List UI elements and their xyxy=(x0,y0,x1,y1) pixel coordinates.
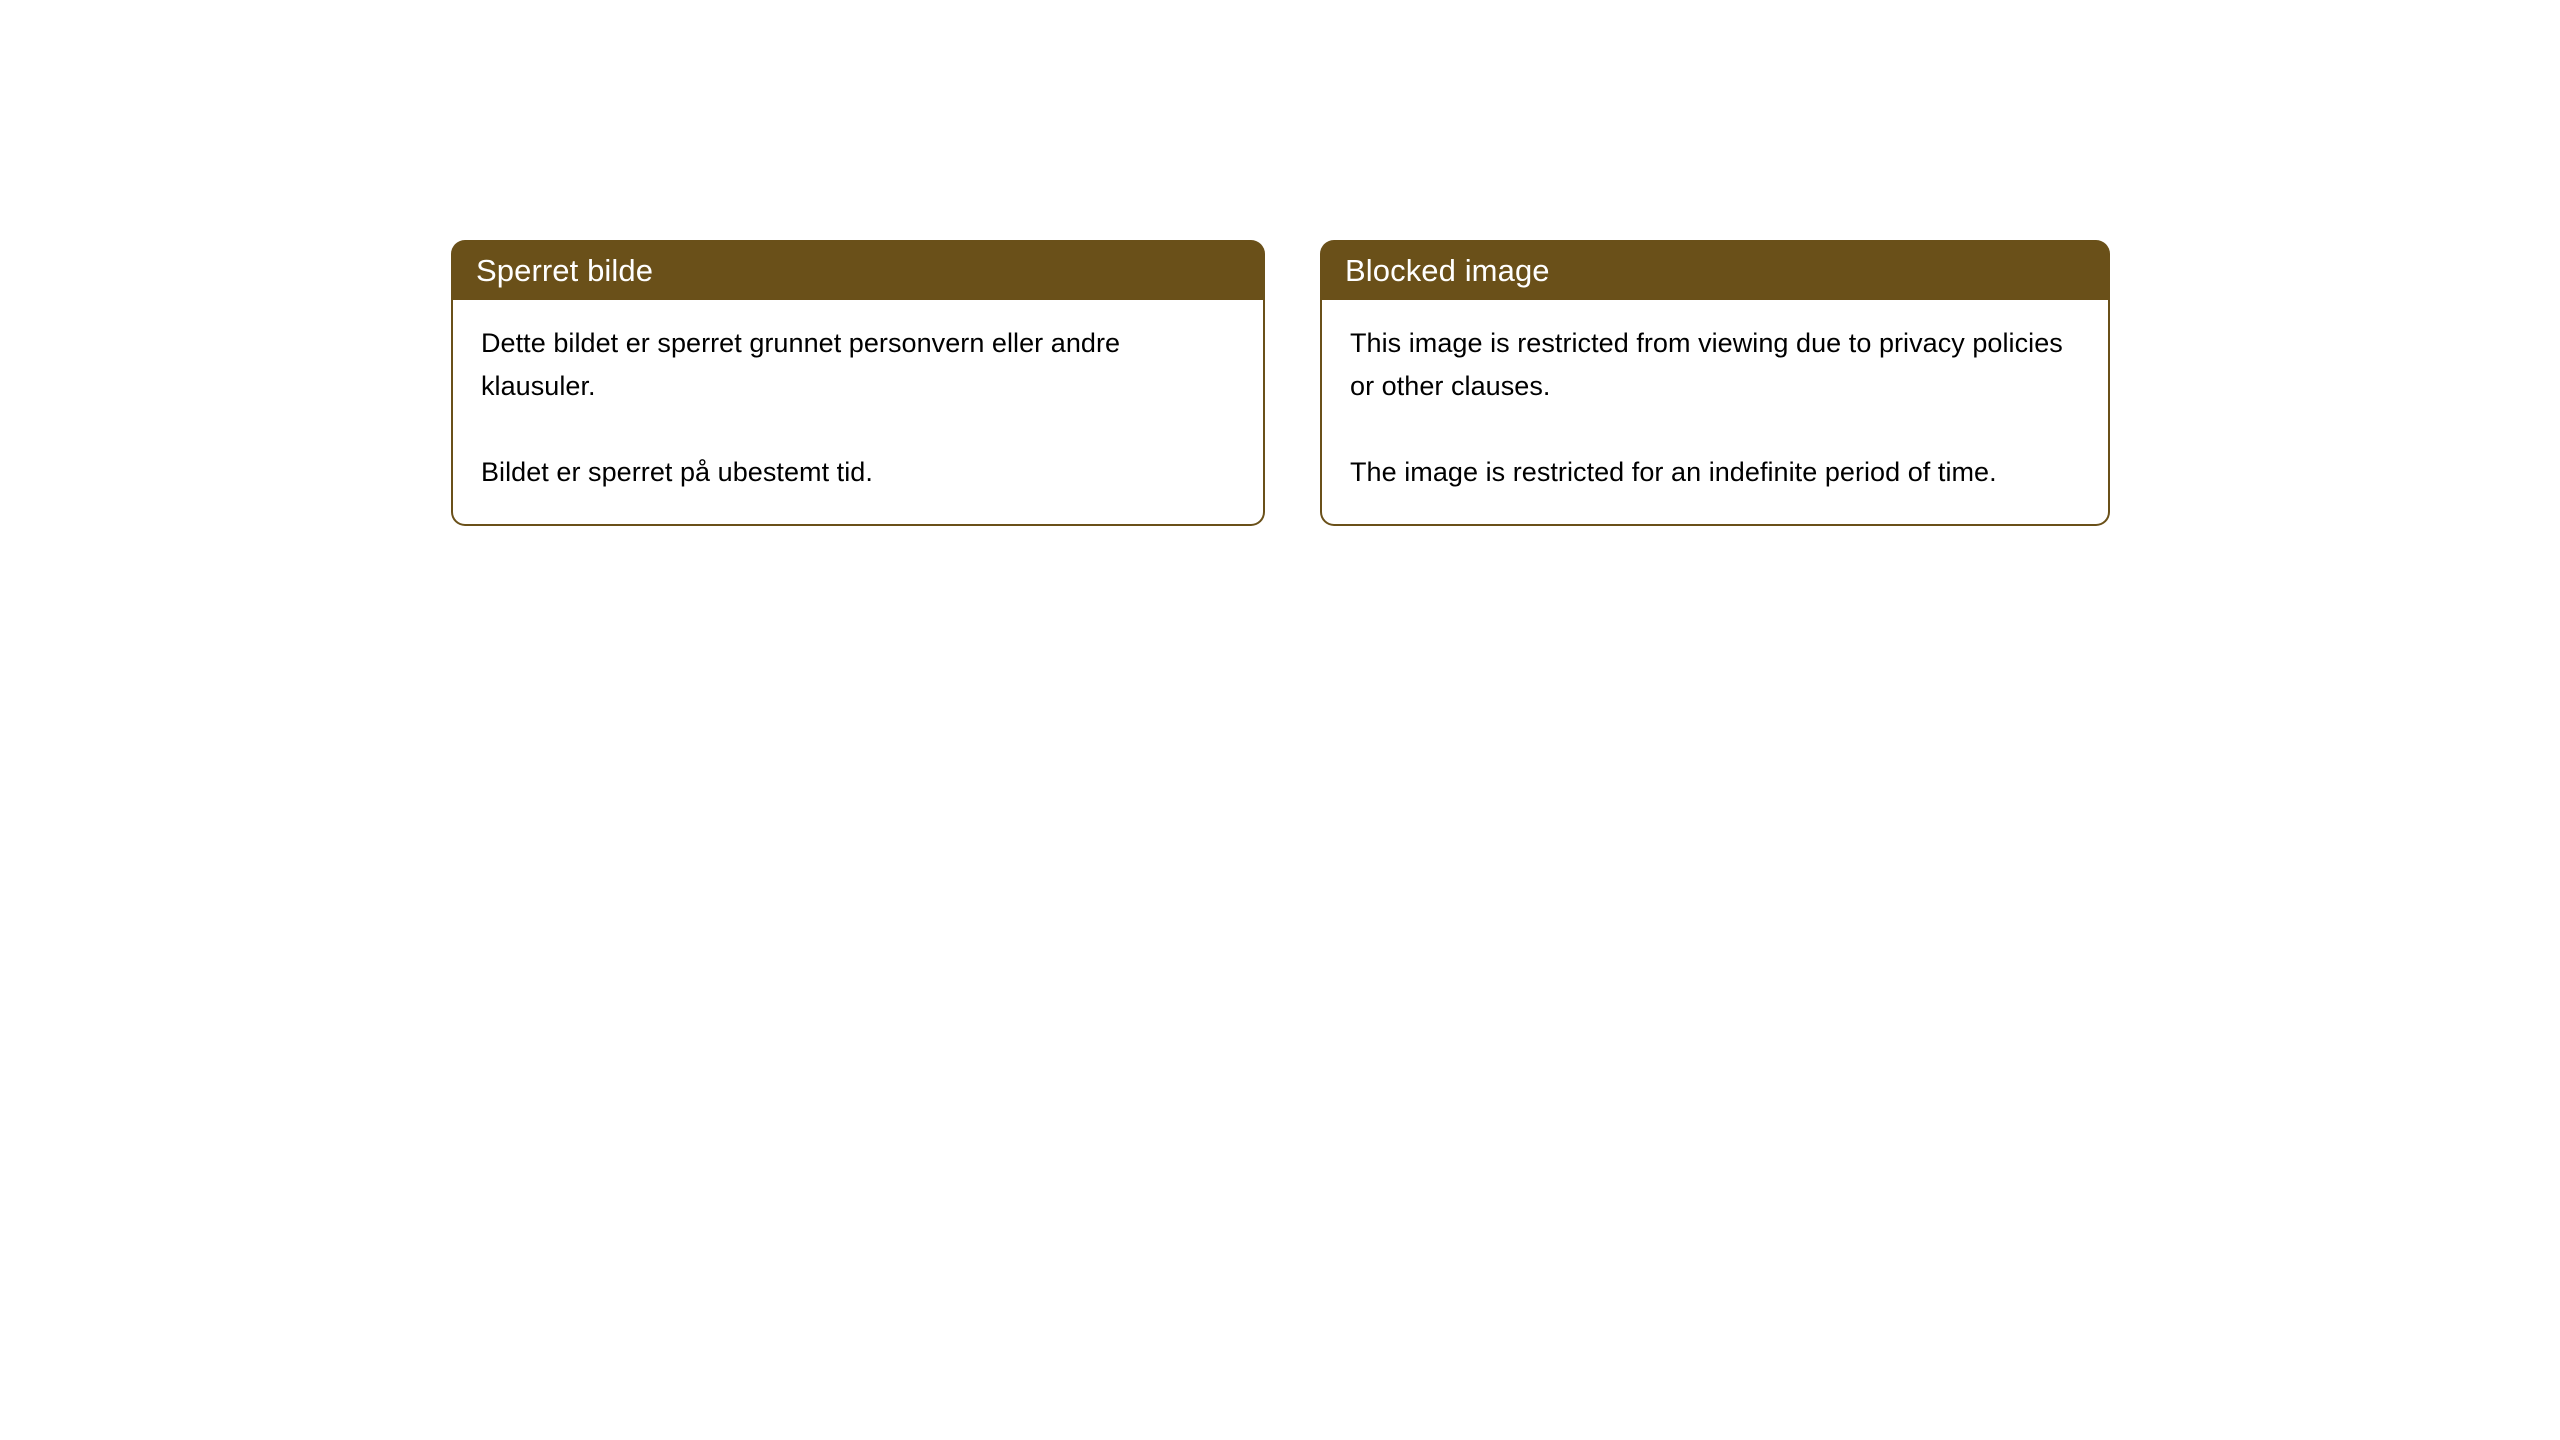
card-title-norwegian: Sperret bilde xyxy=(476,255,653,286)
card-paragraph-primary-english: This image is restricted from viewing du… xyxy=(1350,322,2086,408)
card-body-norwegian: Dette bildet er sperret grunnet personve… xyxy=(451,300,1265,526)
card-title-english: Blocked image xyxy=(1345,255,1550,286)
card-paragraph-primary-norwegian: Dette bildet er sperret grunnet personve… xyxy=(481,322,1241,408)
blocked-image-notice-card-norwegian: Sperret bilde Dette bildet er sperret gr… xyxy=(451,240,1265,526)
page-canvas: Sperret bilde Dette bildet er sperret gr… xyxy=(0,0,2560,1440)
card-body-english: This image is restricted from viewing du… xyxy=(1320,300,2110,526)
blocked-image-notice-card-english: Blocked image This image is restricted f… xyxy=(1320,240,2110,526)
card-header-norwegian: Sperret bilde xyxy=(451,240,1265,300)
card-header-english: Blocked image xyxy=(1320,240,2110,300)
card-paragraph-secondary-norwegian: Bildet er sperret på ubestemt tid. xyxy=(481,451,1241,494)
card-paragraph-secondary-english: The image is restricted for an indefinit… xyxy=(1350,451,2086,494)
